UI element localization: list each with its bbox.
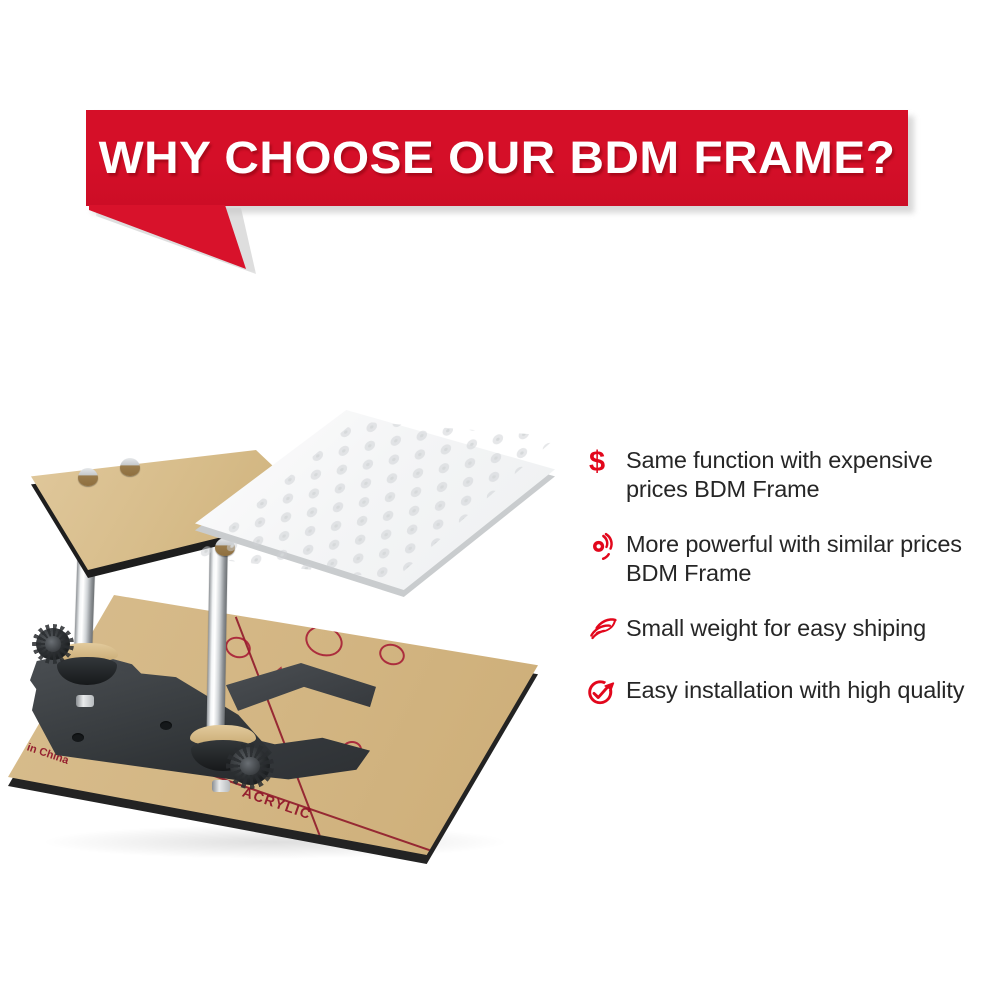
arm-hole [160,721,172,730]
feather-icon [586,614,626,650]
locking-knob[interactable] [230,747,270,785]
post-foot [76,695,94,707]
bdm-frame-product-photo: er in China ACRYLIC [0,395,580,885]
page-root: WHY CHOOSE OUR BDM FRAME? [0,0,1000,1000]
page-title: WHY CHOOSE OUR BDM FRAME? [61,110,932,206]
mounting-stud [78,468,98,486]
check-circle-arrow-icon [586,676,626,712]
locking-knob[interactable] [36,628,70,660]
feature-text: More powerful with similar prices BDM Fr… [626,530,996,588]
acrylic-plate [195,410,555,590]
headline-banner: WHY CHOOSE OUR BDM FRAME? [86,110,908,270]
feature-text: Easy installation with high quality [626,676,996,705]
list-item: $ Same function with expensive prices BD… [586,446,996,504]
feature-list: $ Same function with expensive prices BD… [586,446,996,738]
dollar-sign-icon: $ [586,446,626,482]
mounting-stud [120,458,140,476]
list-item: More powerful with similar prices BDM Fr… [586,530,996,588]
dollar-sign-glyph: $ [586,448,605,477]
arm-hole [72,733,84,742]
ok-hand-icon [586,530,626,566]
feature-text: Small weight for easy shiping [626,614,996,643]
list-item: Easy installation with high quality [586,676,996,712]
feature-text: Same function with expensive prices BDM … [626,446,996,504]
post-foot [212,780,230,792]
list-item: Small weight for easy shiping [586,614,996,650]
